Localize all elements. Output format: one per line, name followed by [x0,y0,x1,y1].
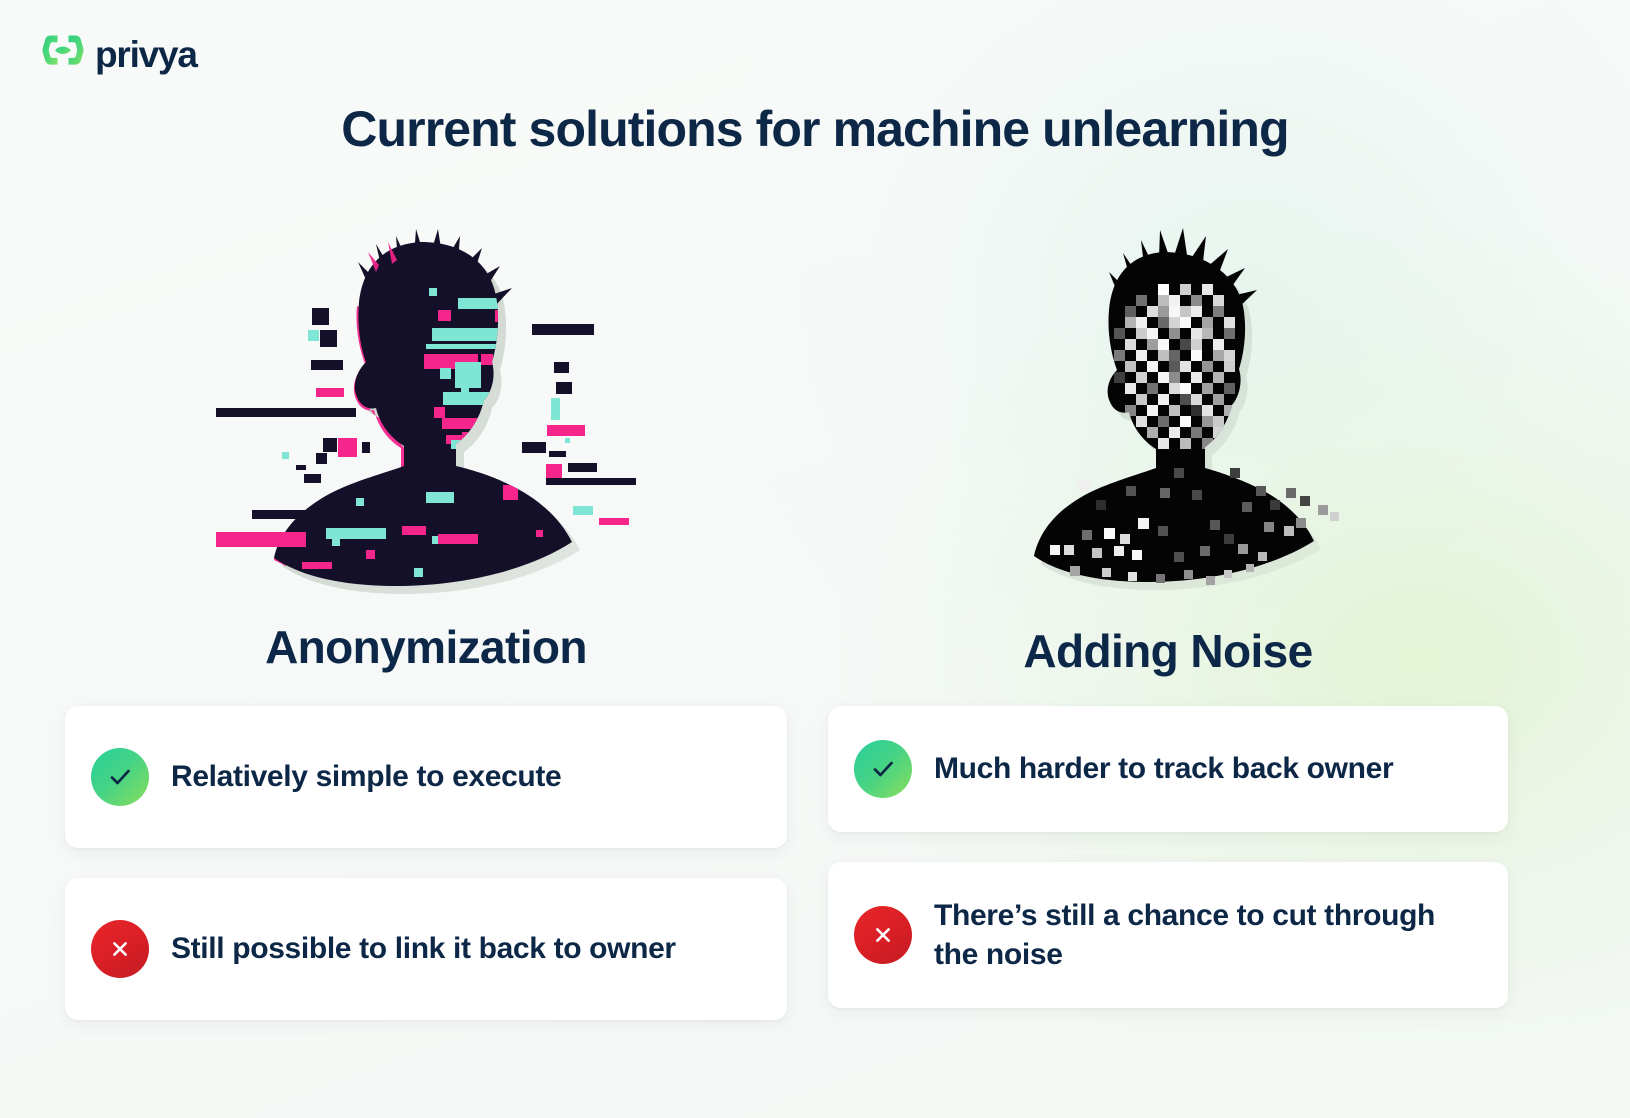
check-circle-icon [854,740,912,798]
brand-logo: privya [40,30,197,76]
point-text: Still possible to link it back to owner [171,929,676,968]
point-card-con: There’s still a chance to cut through th… [828,862,1508,1008]
x-circle-icon [854,906,912,964]
column-anonymization: Anonymization Relatively simple to execu… [65,200,787,1020]
point-text: There’s still a chance to cut through th… [934,896,1482,974]
point-card-pro: Relatively simple to execute [65,706,787,848]
page-title: Current solutions for machine unlearning [0,101,1630,157]
point-card-pro: Much harder to track back owner [828,706,1508,832]
glitch-portrait-icon [65,200,787,600]
point-card-con: Still possible to link it back to owner [65,878,787,1020]
section-heading-anonymization: Anonymization [65,622,787,673]
points-list-adding-noise: Much harder to track back owner There’s … [828,706,1508,1008]
pixelated-noise-portrait-icon [828,200,1508,600]
infographic-canvas: privya Current solutions for machine unl… [0,0,1630,1118]
x-circle-icon [91,920,149,978]
point-text: Much harder to track back owner [934,749,1393,788]
section-heading-adding-noise: Adding Noise [828,626,1508,677]
privya-bracket-icon [40,32,86,74]
point-text: Relatively simple to execute [171,757,561,796]
points-list-anonymization: Relatively simple to execute Still possi… [65,706,787,1020]
check-circle-icon [91,748,149,806]
column-adding-noise: Adding Noise Much harder to track back o… [828,200,1508,1008]
brand-wordmark: privya [95,36,197,73]
